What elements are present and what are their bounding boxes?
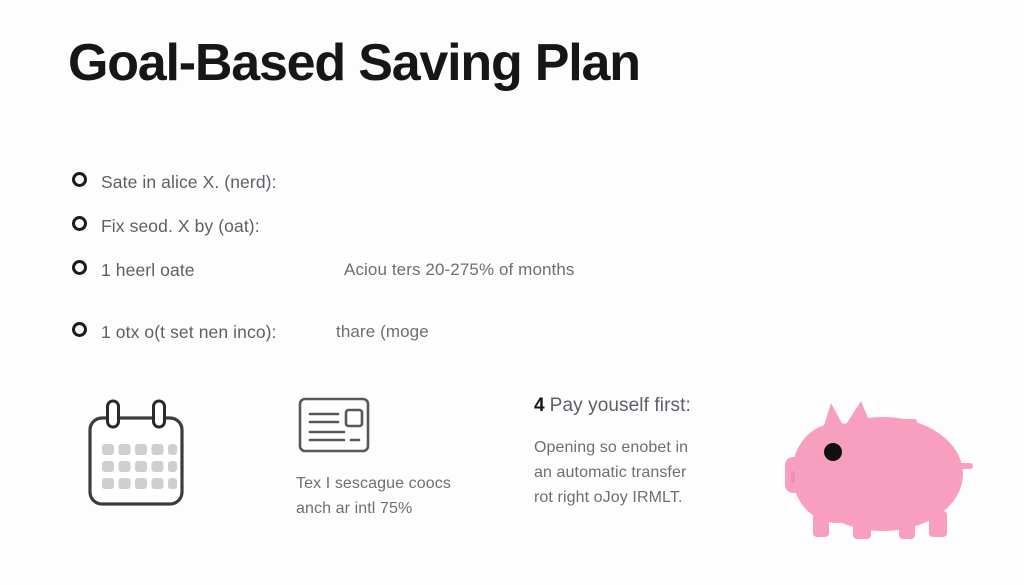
checklist-item-label: 1 otx o(t set nen inco): <box>101 322 277 343</box>
hollow-circle-icon <box>72 322 87 337</box>
panel-heading: 4Pay youself first: <box>534 395 764 417</box>
id-card-icon <box>296 395 372 455</box>
checklist: Sate in alice X. (nerd): Fix seod. X by … <box>72 172 772 366</box>
checklist-item-note: thare (moge <box>336 322 429 342</box>
panel-id-card-caption: Tex I sescague coocs anch ar intl 75% <box>296 471 516 521</box>
panel-row: Tex I sescague coocs anch ar intl 75% 4P… <box>0 395 1024 585</box>
piggy-bank-icon <box>775 395 975 550</box>
checklist-item[interactable]: Fix seod. X by (oat): <box>72 216 772 260</box>
checklist-item-label: Sate in alice X. (nerd): <box>101 172 277 193</box>
checklist-item[interactable]: 1 heerl oate Aciou ters 20-275% of month… <box>72 260 772 304</box>
paragraph-line: rot right oJoy IRMLT. <box>534 485 764 510</box>
page-title: Goal-Based Saving Plan <box>68 33 640 93</box>
paragraph-line: an automatic transfer <box>534 460 764 485</box>
caption-line: Tex I sescague coocs <box>296 471 516 496</box>
panel-heading-text: Pay youself first: <box>550 395 691 416</box>
checklist-item-note: Aciou ters 20-275% of months <box>344 260 575 280</box>
checklist-item[interactable]: 1 otx o(t set nen inco): thare (moge <box>72 322 772 366</box>
paragraph-line: Opening so enobet in <box>534 435 764 460</box>
panel-piggy-bank <box>775 395 995 550</box>
document-page: Goal-Based Saving Plan Sate in alice X. … <box>0 0 1024 585</box>
panel-pay-yourself-first: 4Pay youself first: Opening so enobet in… <box>534 395 764 510</box>
panel-calendar <box>80 395 280 513</box>
hollow-circle-icon <box>72 172 87 187</box>
caption-line: anch ar intl 75% <box>296 496 516 521</box>
panel-paragraph: Opening so enobet in an automatic transf… <box>534 435 764 510</box>
panel-id-card: Tex I sescague coocs anch ar intl 75% <box>296 395 516 521</box>
hollow-circle-icon <box>72 216 87 231</box>
calendar-icon <box>80 395 192 513</box>
checklist-item-label: 1 heerl oate <box>101 260 195 281</box>
panel-heading-number: 4 <box>534 395 545 416</box>
hollow-circle-icon <box>72 260 87 275</box>
checklist-item[interactable]: Sate in alice X. (nerd): <box>72 172 772 216</box>
checklist-item-label: Fix seod. X by (oat): <box>101 216 260 237</box>
